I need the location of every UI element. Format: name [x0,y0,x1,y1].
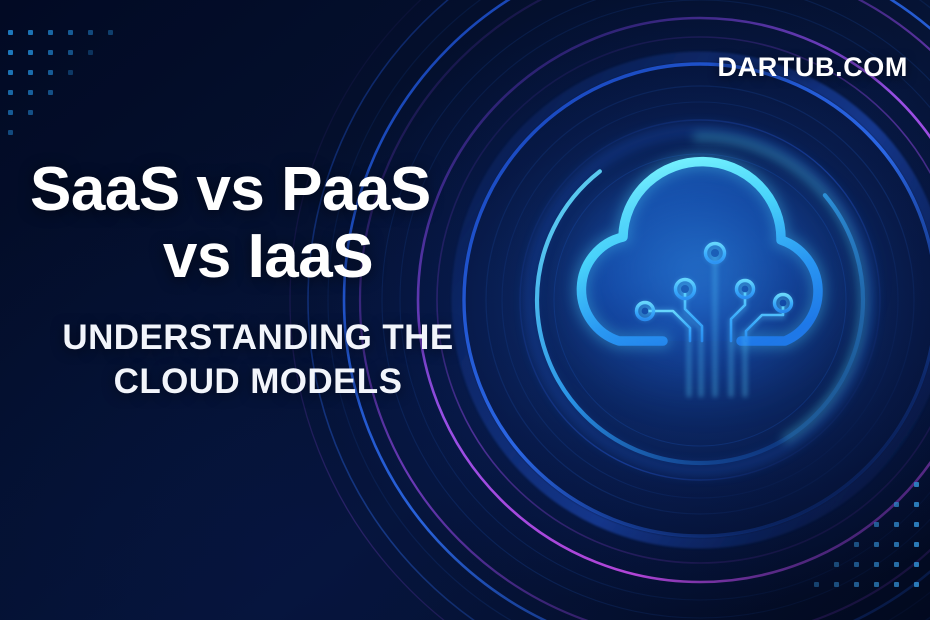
hero-banner: DARTUB.COM [0,0,930,620]
hero-text-block: SaaS vs PaaS vs IaaS UNDERSTANDING THE C… [28,158,528,403]
page-title-line-2: vs IaaS [28,225,528,288]
cloud-glow [555,155,875,415]
page-subtitle-line-2: CLOUD MODELS [28,360,488,403]
page-subtitle: UNDERSTANDING THE CLOUD MODELS [28,316,528,403]
page-subtitle-line-1: UNDERSTANDING THE [28,316,488,359]
dot-grid-top-left-icon [4,26,134,146]
page-title-line-1: SaaS vs PaaS [28,158,528,221]
dot-grid-bottom-right-icon [794,478,924,598]
cloud-circuit-graphic [545,145,885,435]
site-logo[interactable]: DARTUB.COM [718,52,908,83]
